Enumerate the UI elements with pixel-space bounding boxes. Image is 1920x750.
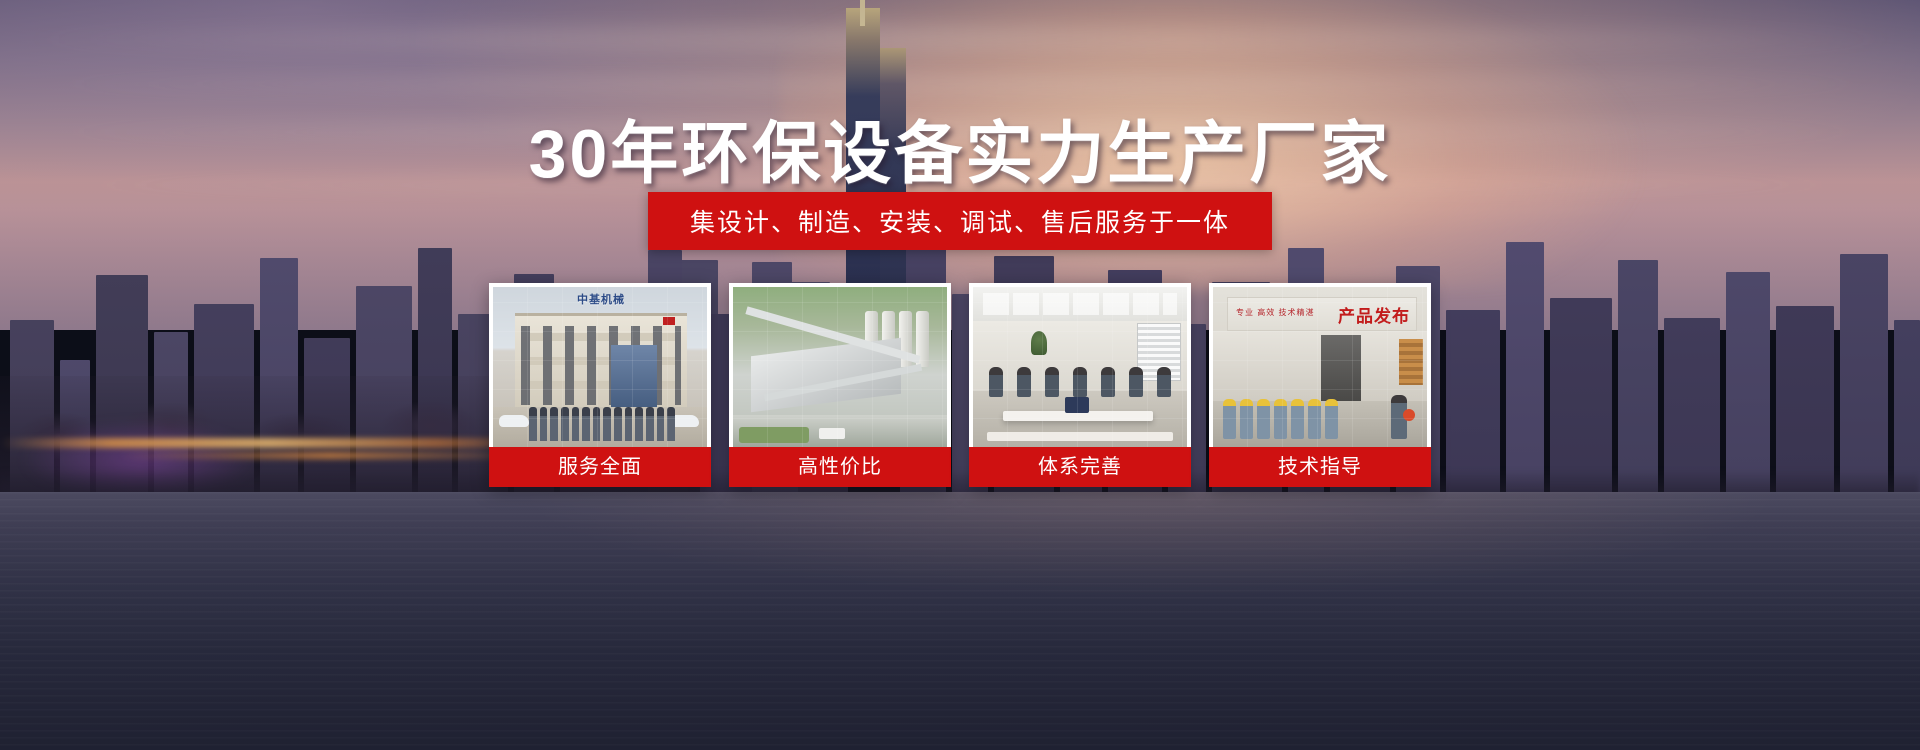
- office-building-photo: 中基机械: [493, 287, 707, 447]
- flag-icon: [663, 317, 675, 325]
- feature-card-label: 体系完善: [969, 447, 1191, 487]
- hero-subtitle-banner: 集设计、制造、安装、调试、售后服务于一体: [648, 192, 1272, 250]
- feature-card[interactable]: 高性价比: [729, 283, 951, 487]
- feature-card[interactable]: 专业 高效 技术精湛 产品发布 技术指导: [1209, 283, 1431, 487]
- feature-card-label: 高性价比: [729, 447, 951, 487]
- feature-card-label: 服务全面: [489, 447, 711, 487]
- feature-card[interactable]: 体系完善: [969, 283, 1191, 487]
- workshop-banner: 专业 高效 技术精湛 产品发布: [1227, 297, 1417, 331]
- workshop-banner-side-text: 专业 高效 技术精湛: [1236, 307, 1314, 318]
- workshop-crew-photo: 专业 高效 技术精湛 产品发布: [1213, 287, 1427, 447]
- feature-card-list: 中基机械 服务全面: [489, 283, 1431, 487]
- workshop-banner-main-text: 产品发布: [1338, 302, 1410, 327]
- hero-headline: 30年环保设备实力生产厂家: [0, 98, 1920, 197]
- office-meeting-photo: [973, 287, 1187, 447]
- company-sign-text: 中基机械: [555, 293, 647, 308]
- aerial-plant-photo: [733, 287, 947, 447]
- hero-banner: 30年环保设备实力生产厂家 集设计、制造、安装、调试、售后服务于一体 中基机械 …: [0, 0, 1920, 750]
- feature-card-label: 技术指导: [1209, 447, 1431, 487]
- feature-card[interactable]: 中基机械 服务全面: [489, 283, 711, 487]
- hero-content: 30年环保设备实力生产厂家 集设计、制造、安装、调试、售后服务于一体 中基机械 …: [0, 0, 1920, 750]
- helmet-icon: [1403, 409, 1415, 421]
